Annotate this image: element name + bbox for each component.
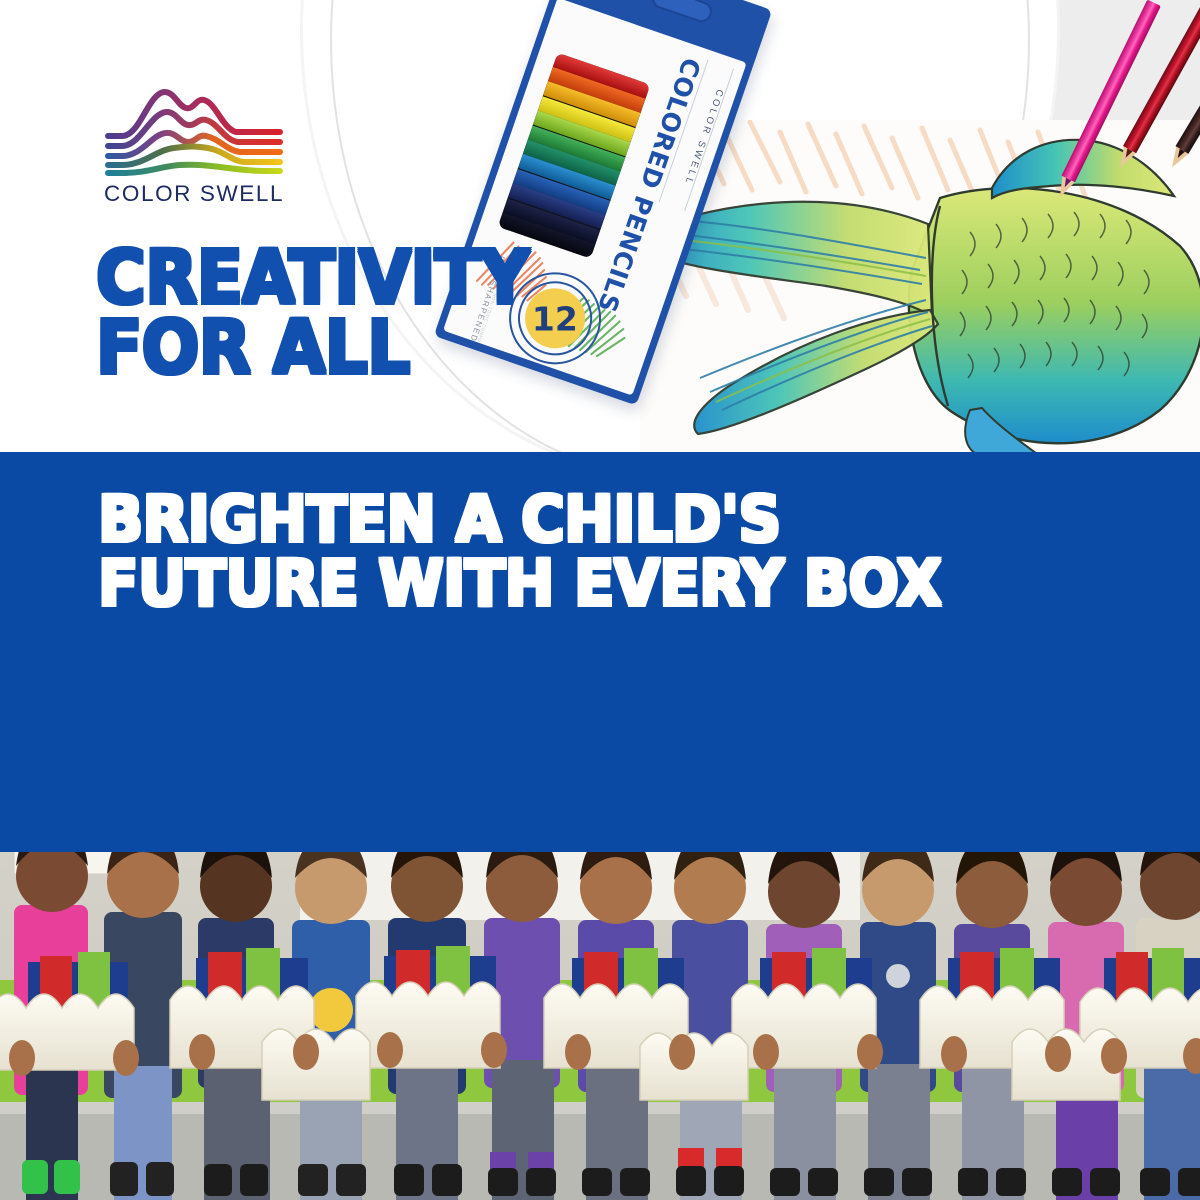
loose-pencils-group	[1000, 0, 1200, 210]
pink-pencil	[1049, 0, 1161, 208]
logo-wordmark: COLOR SWELL	[104, 181, 284, 207]
band-headline-line-2: FUTURE WITH EVERY BOX	[98, 552, 1019, 616]
band-headline-line-1: BRIGHTEN A CHILD'S	[98, 488, 1019, 552]
band-subtext-line-1: YOUR PURCHASE HELPS	[495, 644, 1095, 682]
hero-headline: CREATIVITY FOR ALL	[96, 244, 666, 383]
swell-waves-icon	[104, 84, 284, 180]
band-headline: BRIGHTEN A CHILD'S FUTURE WITH EVERY BOX	[98, 488, 1019, 617]
promo-banner: COLOR SWELL COLORED PENCILS	[0, 0, 1200, 1200]
band-subtext-line-2: DONATE ART SUPPLIES TO	[495, 682, 1095, 720]
donation-message-band: BRIGHTEN A CHILD'S FUTURE WITH EVERY BOX…	[0, 452, 1200, 852]
hang-hole-icon	[649, 0, 714, 25]
hero-section: COLOR SWELL COLORED PENCILS	[0, 0, 1200, 455]
hero-headline-line-2: FOR ALL	[96, 314, 666, 384]
color-swell-logo[interactable]: COLOR SWELL	[104, 84, 284, 214]
band-subtext: YOUR PURCHASE HELPS DONATE ART SUPPLIES …	[495, 644, 1095, 759]
band-subtext-line-3: KIDS IN NEED	[495, 721, 1095, 759]
